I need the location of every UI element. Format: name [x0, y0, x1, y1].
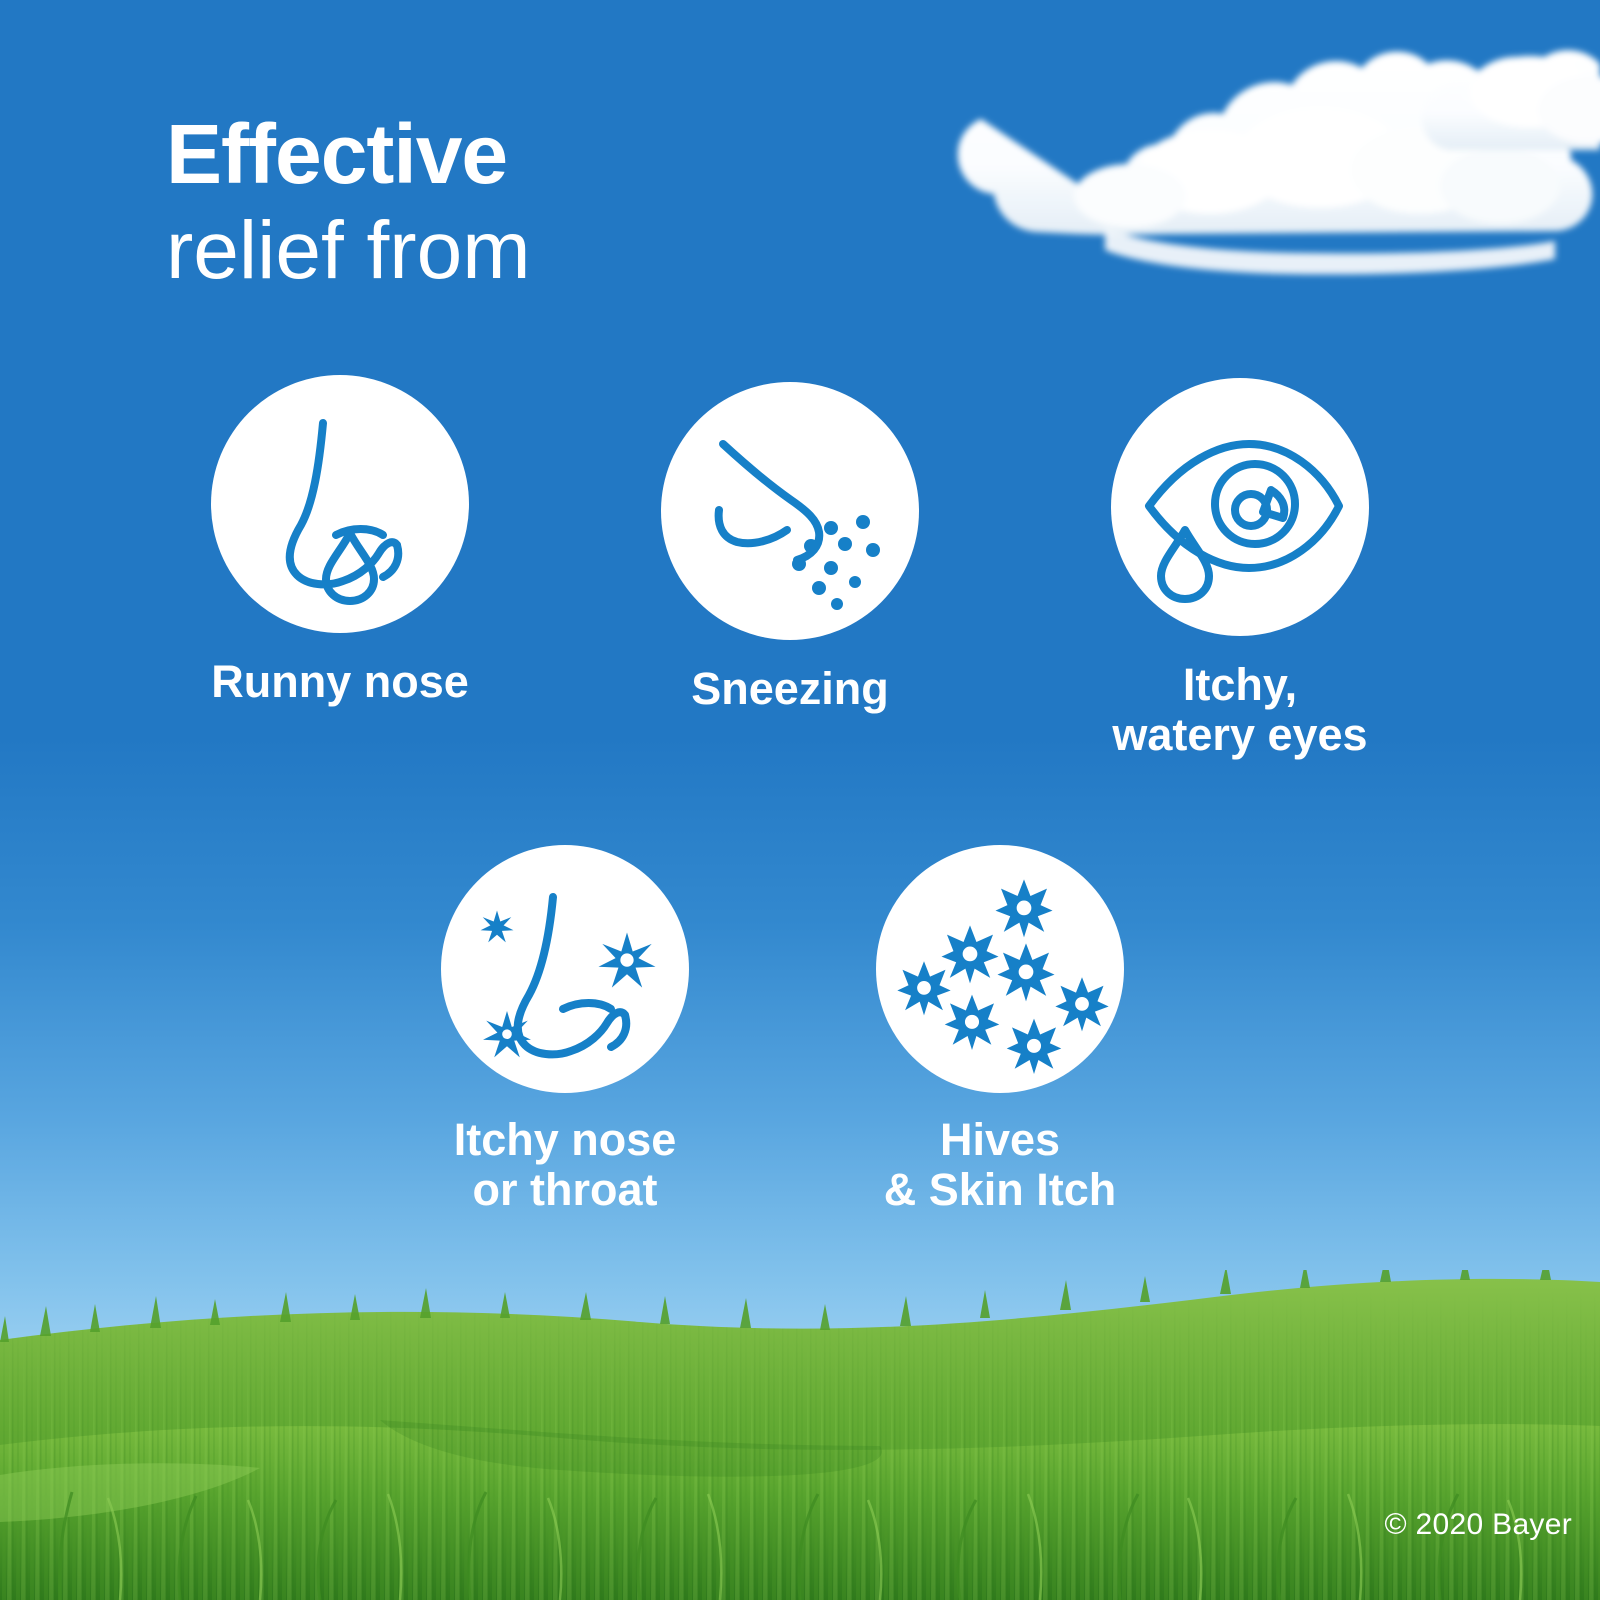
sneeze-nose-icon — [661, 382, 919, 640]
symptom-hives-skin-itch[interactable]: Hives & Skin Itch — [800, 845, 1200, 1216]
symptom-icon-bubble — [441, 845, 689, 1093]
symptom-label: Sneezing — [575, 664, 1005, 714]
symptom-label: Runny nose — [120, 657, 560, 707]
symptom-itchy-watery-eyes[interactable]: Itchy, watery eyes — [1000, 378, 1480, 761]
symptom-icon-bubble — [661, 382, 919, 640]
nose-pollen-icon — [441, 845, 689, 1093]
symptom-icon-bubble — [1111, 378, 1369, 636]
headline-line-2: relief from — [166, 210, 531, 292]
symptom-icon-bubble — [211, 375, 469, 633]
allergy-relief-graphic: Effective relief from Runny nose — [0, 0, 1600, 1600]
copyright-notice: © 2020 Bayer — [1385, 1508, 1572, 1542]
symptom-label: Itchy, watery eyes — [1000, 660, 1480, 761]
symptom-itchy-nose-or-throat[interactable]: Itchy nose or throat — [360, 845, 770, 1216]
symptom-runny-nose[interactable]: Runny nose — [120, 375, 560, 707]
headline-line-1: Effective — [166, 112, 531, 196]
symptom-icon-bubble — [876, 845, 1124, 1093]
symptom-sneezing[interactable]: Sneezing — [575, 382, 1005, 714]
grass-field — [0, 1270, 1600, 1600]
symptom-label: Itchy nose or throat — [360, 1115, 770, 1216]
hives-cluster-icon — [876, 845, 1124, 1093]
teary-eye-icon — [1111, 378, 1369, 636]
nose-drip-icon — [211, 375, 469, 633]
hive-spot — [897, 879, 1108, 1074]
symptom-label: Hives & Skin Itch — [800, 1115, 1200, 1216]
headline: Effective relief from — [166, 112, 531, 292]
pollen-star — [481, 911, 656, 1058]
